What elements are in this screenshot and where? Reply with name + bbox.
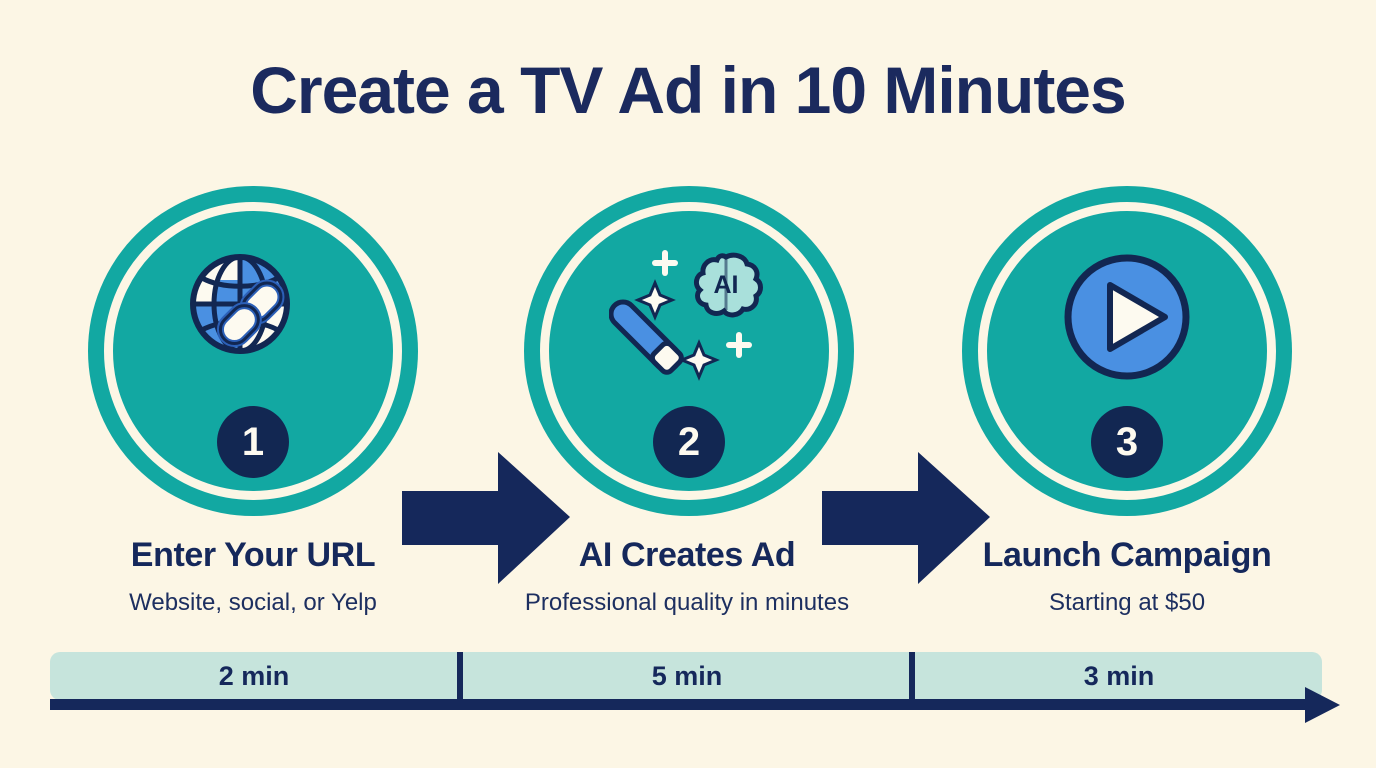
timeline-divider-1 xyxy=(457,652,463,700)
icon-holder-1 xyxy=(88,234,418,404)
page-title: Create a TV Ad in 10 Minutes xyxy=(0,52,1376,128)
step-title-1: Enter Your URL xyxy=(43,536,463,575)
caption-step-2: AI Creates Ad Professional quality in mi… xyxy=(477,536,897,617)
step-subtitle-2: Professional quality in minutes xyxy=(477,589,897,617)
step-title-2: AI Creates Ad xyxy=(477,536,897,575)
step-badge-3: 3 xyxy=(1091,406,1163,478)
step-badge-2: 2 xyxy=(653,406,725,478)
step-circle-3[interactable]: 3 xyxy=(962,186,1292,516)
timeline-segment-2: 5 min xyxy=(464,652,910,700)
step-badge-1: 1 xyxy=(217,406,289,478)
steps-row: 1 AI xyxy=(0,186,1376,516)
magic-wand-ai-brain-icon: AI xyxy=(609,239,769,399)
timeline-divider-2 xyxy=(909,652,915,700)
caption-step-1: Enter Your URL Website, social, or Yelp xyxy=(43,536,463,617)
timeline-segment-3: 3 min xyxy=(916,652,1322,700)
step-subtitle-1: Website, social, or Yelp xyxy=(43,589,463,617)
timeline-arrow-right-icon xyxy=(1305,687,1340,723)
timeline: 2 min 5 min 3 min xyxy=(50,652,1322,702)
caption-step-3: Launch Campaign Starting at $50 xyxy=(917,536,1337,617)
icon-holder-2: AI xyxy=(524,234,854,404)
step-subtitle-3: Starting at $50 xyxy=(917,589,1337,617)
globe-link-icon xyxy=(178,242,328,397)
infographic-canvas: Create a TV Ad in 10 Minutes xyxy=(0,0,1376,768)
step-circle-2[interactable]: AI xyxy=(524,186,854,516)
captions-row: Enter Your URL Website, social, or Yelp … xyxy=(0,536,1376,646)
icon-holder-3 xyxy=(962,234,1292,404)
step-title-3: Launch Campaign xyxy=(917,536,1337,575)
step-circle-1[interactable]: 1 xyxy=(88,186,418,516)
timeline-axis-line xyxy=(50,699,1312,710)
play-button-icon xyxy=(1062,252,1192,387)
timeline-segment-1: 2 min xyxy=(50,652,458,700)
brain-ai-label: AI xyxy=(714,271,739,299)
